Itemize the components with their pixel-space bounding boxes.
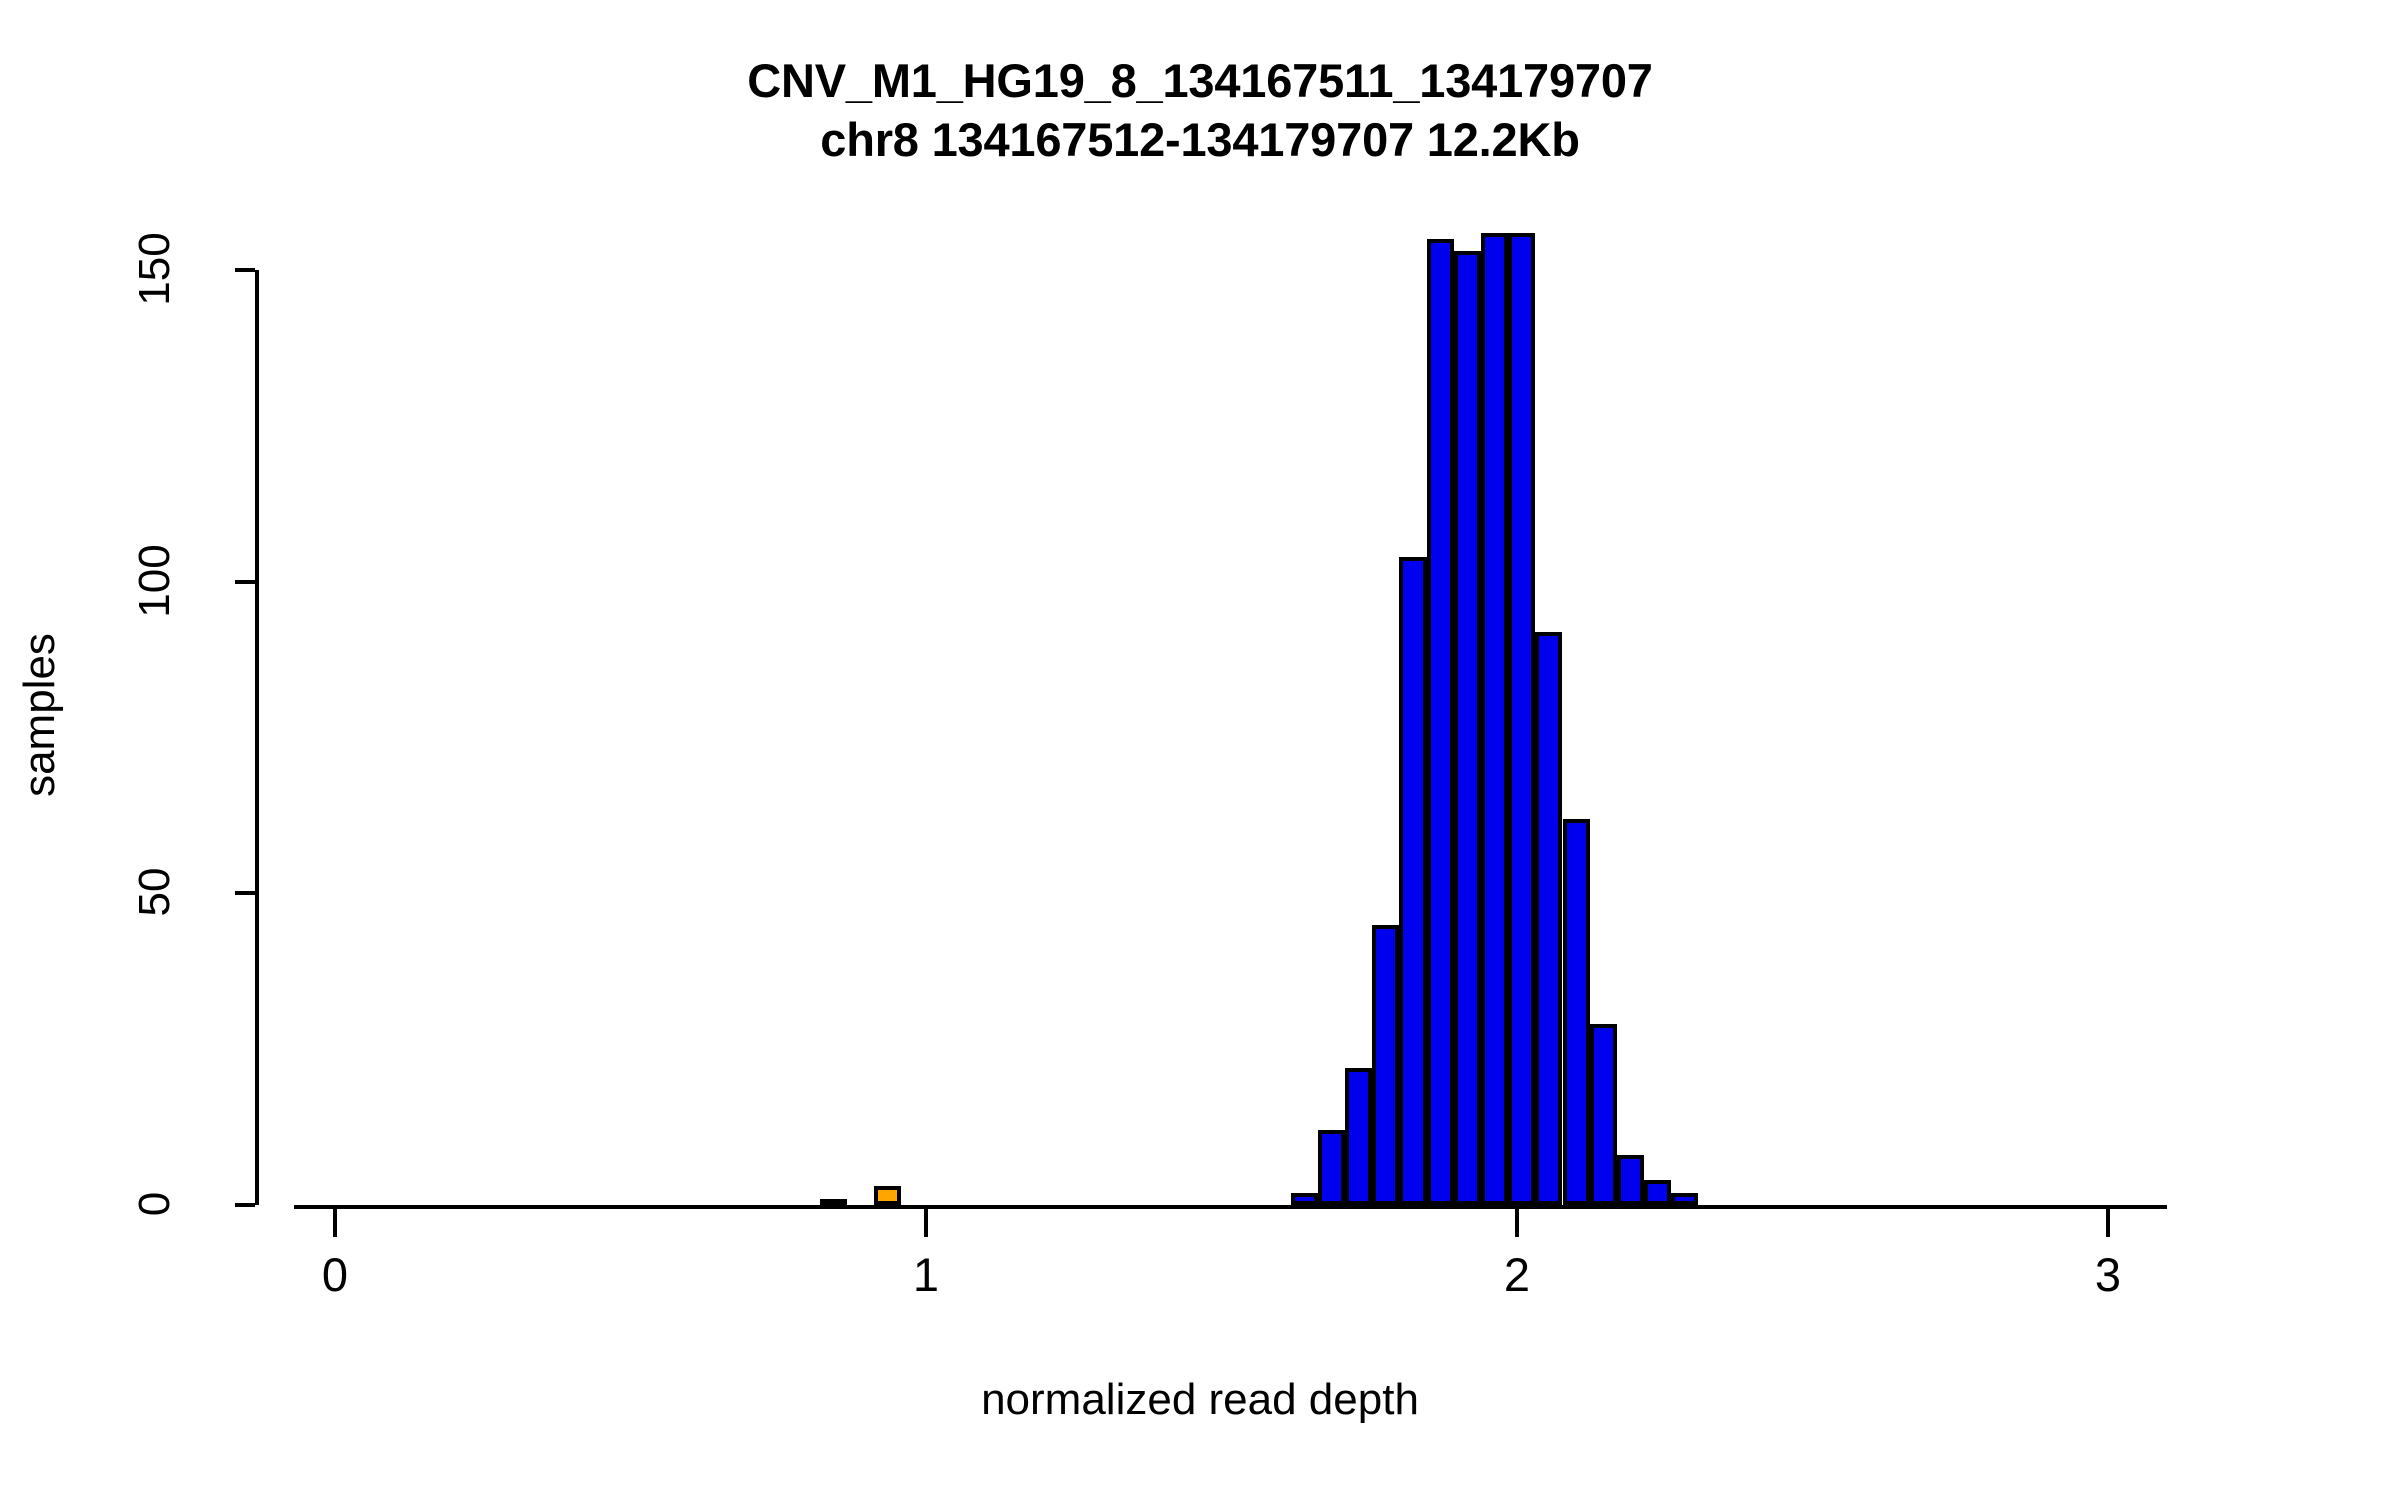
x-axis-tick-label: 0 bbox=[275, 1247, 395, 1302]
chart-canvas: CNV_M1_HG19_8_134167511_134179707 chr8 1… bbox=[0, 0, 2400, 1500]
histogram-bar bbox=[1291, 1193, 1318, 1205]
histogram-bar bbox=[1508, 233, 1535, 1205]
plot-area: 0501001500123 bbox=[0, 0, 2400, 1500]
x-axis-tick bbox=[1515, 1209, 1519, 1237]
histogram-bar bbox=[1399, 557, 1426, 1205]
histogram-bar bbox=[1617, 1155, 1644, 1205]
histogram-bar bbox=[1535, 632, 1562, 1205]
y-axis-tick-label: 100 bbox=[130, 526, 180, 636]
histogram-bar bbox=[874, 1186, 901, 1205]
y-axis-tick bbox=[235, 1203, 255, 1207]
y-axis-tick-label: 50 bbox=[130, 837, 180, 947]
x-axis-tick bbox=[2106, 1209, 2110, 1237]
x-axis-tick-label: 3 bbox=[2048, 1247, 2168, 1302]
y-axis-tick bbox=[235, 580, 255, 584]
y-axis-title: samples bbox=[15, 555, 65, 875]
histogram-bar bbox=[1372, 925, 1399, 1206]
histogram-bar bbox=[1454, 251, 1481, 1205]
y-axis-tick bbox=[235, 268, 255, 272]
histogram-bar bbox=[1318, 1130, 1345, 1205]
x-axis-title: normalized read depth bbox=[0, 1375, 2400, 1425]
x-axis-tick bbox=[333, 1209, 337, 1237]
y-axis-line bbox=[255, 270, 259, 1205]
x-axis-tick-label: 1 bbox=[866, 1247, 986, 1302]
histogram-bar bbox=[1590, 1024, 1617, 1205]
x-axis-tick-label: 2 bbox=[1457, 1247, 1577, 1302]
histogram-bar bbox=[1345, 1068, 1372, 1205]
histogram-bar bbox=[1563, 819, 1590, 1205]
y-axis-tick-label: 0 bbox=[130, 1149, 180, 1259]
x-axis-tick bbox=[924, 1209, 928, 1237]
y-axis-tick-label: 150 bbox=[130, 214, 180, 324]
x-axis-line bbox=[294, 1205, 2167, 1209]
histogram-bar bbox=[1671, 1193, 1698, 1205]
histogram-bar bbox=[1644, 1180, 1671, 1205]
histogram-bar bbox=[1427, 239, 1454, 1205]
y-axis-tick bbox=[235, 891, 255, 895]
histogram-bar bbox=[1481, 233, 1508, 1205]
